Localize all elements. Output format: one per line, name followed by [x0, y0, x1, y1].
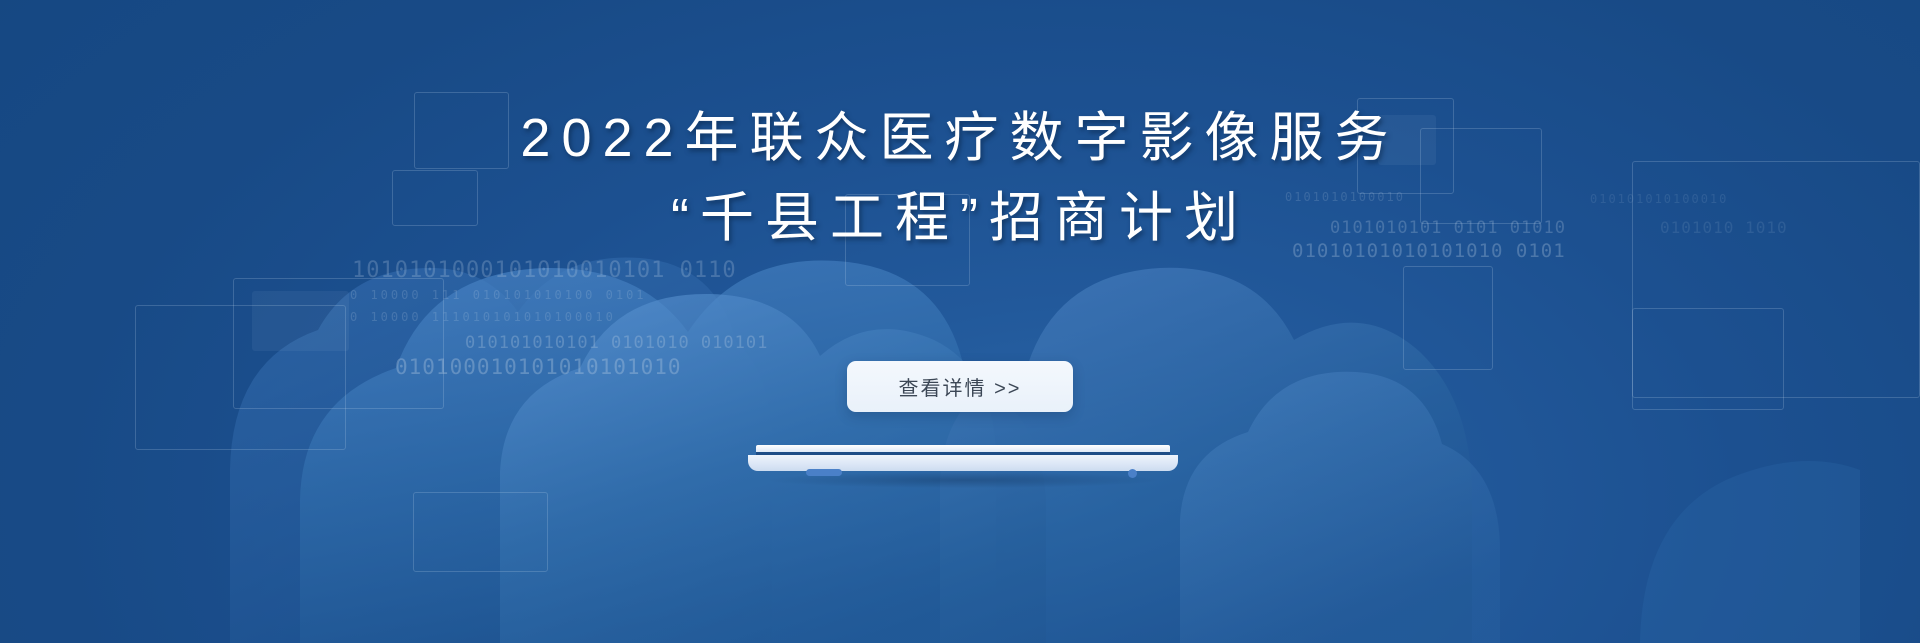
- title-line-secondary: “千县工程”招商计划: [0, 178, 1920, 258]
- banner-title: 2022年联众医疗数字影像服务 “千县工程”招商计划: [0, 98, 1920, 258]
- view-details-label: 查看详情 >>: [899, 372, 1022, 401]
- binary-code-texture: 1010101000101010010101 0110 0 10000 111 …: [0, 0, 1920, 643]
- title-line-primary: 2022年联众医疗数字影像服务: [0, 98, 1920, 178]
- laptop-base: [748, 455, 1178, 471]
- laptop-speaker-grille: [806, 469, 842, 476]
- laptop-lid-edge: [756, 445, 1170, 452]
- binary-string: 0 10000 111010101010100010: [350, 310, 616, 324]
- binary-string: 0 10000 111 010101010100 0101: [350, 288, 647, 302]
- laptop-indicator-dot: [1128, 469, 1137, 478]
- promo-banner: 1010101000101010010101 0110 0 10000 111 …: [0, 0, 1920, 643]
- binary-string: 1010101000101010010101 0110: [352, 258, 737, 283]
- binary-string: 010100010101010101010: [395, 355, 682, 379]
- binary-string: 010101010101 0101010 010101: [465, 333, 768, 353]
- view-details-button[interactable]: 查看详情 >>: [847, 361, 1073, 412]
- laptop-illustration: [748, 445, 1178, 483]
